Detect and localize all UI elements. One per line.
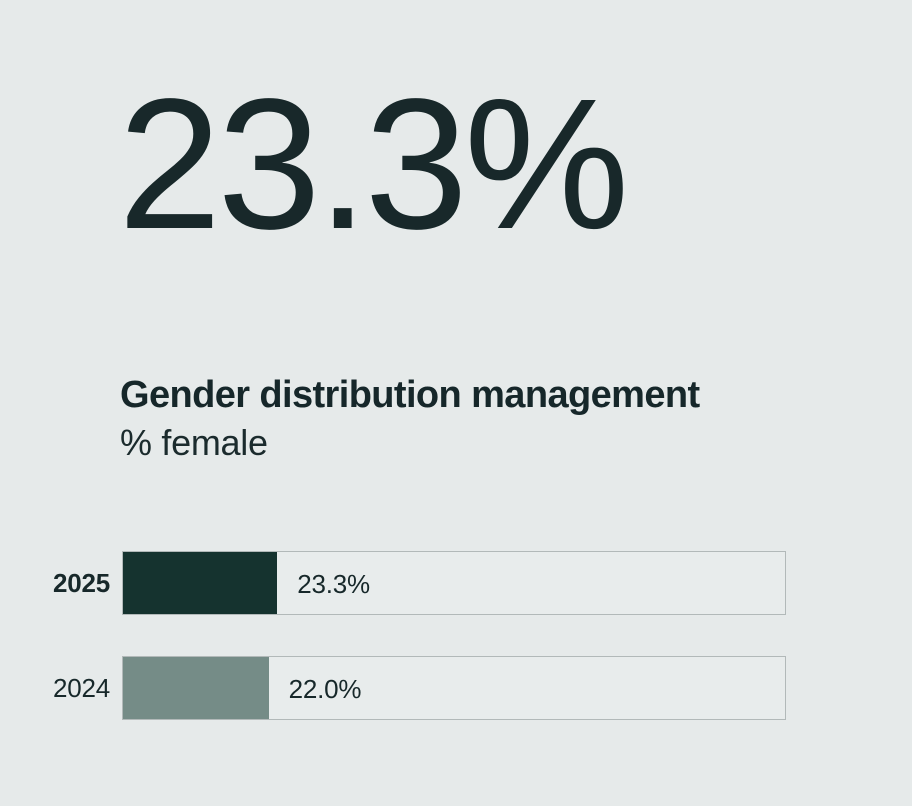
bar-category-label: 2024	[0, 656, 110, 720]
bar-fill	[123, 657, 269, 719]
bar-row: 2024 22.0%	[0, 656, 912, 720]
bar-value-label: 22.0%	[289, 657, 362, 720]
bar-fill	[123, 552, 277, 614]
bar-track: 22.0%	[122, 656, 786, 720]
bar-value-label: 23.3%	[297, 552, 370, 615]
chart-title: Gender distribution management	[120, 374, 820, 417]
headline-value: 23.3%	[118, 72, 625, 258]
chart-subtitle: % female	[120, 421, 820, 464]
bar-row: 2025 23.3%	[0, 551, 912, 615]
kpi-infographic: 23.3% Gender distribution management % f…	[0, 0, 912, 806]
bar-chart: 2025 23.3% 2024 22.0%	[0, 551, 912, 720]
bar-category-label: 2025	[0, 551, 110, 615]
bar-track: 23.3%	[122, 551, 786, 615]
chart-title-block: Gender distribution management % female	[120, 374, 820, 464]
